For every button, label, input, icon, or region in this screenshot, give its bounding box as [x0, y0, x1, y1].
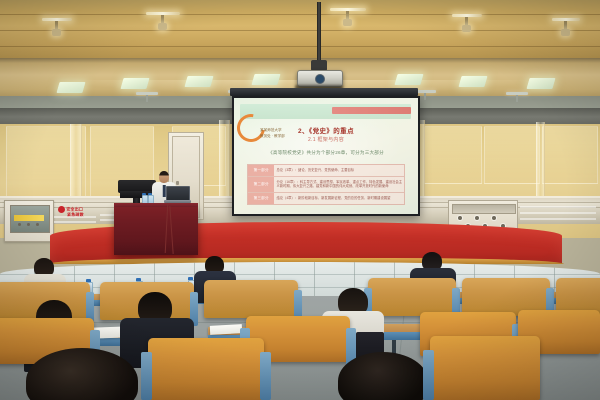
slide-table-row-label: 第一部分 — [248, 165, 275, 175]
track-spotlight — [42, 18, 72, 21]
wall-rail — [520, 206, 596, 208]
recessed-ceiling-light — [184, 76, 213, 87]
projector-mount-pole — [317, 2, 321, 62]
screen-housing — [230, 88, 418, 96]
ceiling-seam — [0, 46, 600, 47]
bottle-cap — [142, 193, 146, 195]
track-spotlight — [552, 18, 580, 21]
wall-control-cabinet[interactable] — [4, 200, 54, 242]
cabinet-window — [10, 205, 50, 233]
track-spotlight — [452, 14, 482, 17]
vent-slot — [452, 204, 516, 214]
recessed-ceiling-light — [251, 74, 280, 85]
recessed-ceiling-light — [458, 76, 487, 87]
slide-table-row-label: 第三部分 — [248, 193, 275, 203]
wall-panel — [484, 126, 540, 184]
lecture-hall-photo: 安全出口 紧急疏散 某某师范大学 教 — [0, 0, 600, 400]
slide-table-row-body: 总论（3章）：绪论、历史复兴、党的使命、主要目标 — [274, 165, 404, 175]
wall-rail — [54, 216, 96, 218]
slide-table-row-label: 第二部分 — [248, 177, 275, 193]
wall-rail — [54, 221, 96, 223]
slide-header-band — [240, 104, 411, 119]
recessed-ceiling-light — [526, 78, 555, 89]
slide-table-row-body: 分论（16章）：科主导方式、建设思想、军民改革、重点工作、特色发展、建设社会主义… — [274, 177, 404, 193]
slide-table-row: 第二部分 分论（16章）：科主导方式、建设思想、军民改革、重点工作、特色发展、建… — [248, 177, 404, 194]
track-spotlight — [146, 12, 180, 15]
speaker-head — [159, 171, 169, 183]
cabinet-warning-label — [14, 215, 44, 221]
slide-content-table: 第一部分 总论（3章）：绪论、历史复兴、党的使命、主要目标 第二部分 分论（16… — [247, 164, 405, 205]
wall-pillar — [70, 124, 82, 204]
ceiling-seam — [0, 14, 600, 15]
slide-table-row: 第一部分 总论（3章）：绪论、历史复兴、党的使命、主要目标 — [248, 165, 404, 176]
recessed-ceiling-light — [394, 74, 423, 85]
bottle-cap — [148, 193, 152, 195]
projection-screen-frame: 某某师范大学 教务处 · 教学部 2、《党史》的重点 2.1 框架与内容 《高等… — [232, 96, 420, 216]
recessed-ceiling-light — [120, 78, 149, 89]
paper-sheet — [210, 324, 242, 335]
slide-header-accent-bar — [332, 107, 411, 114]
bottle-cap — [188, 277, 193, 280]
table-skirt — [114, 207, 198, 255]
projection-screen: 某某师范大学 教务处 · 教学部 2、《党史》的重点 2.1 框架与内容 《高等… — [234, 98, 418, 214]
wall-rail — [520, 218, 596, 220]
wall-rail — [520, 212, 596, 214]
exit-sign-logo-icon — [58, 206, 65, 213]
ceiling-gold-panels — [0, 0, 600, 62]
exit-sign-line1: 安全出口 — [66, 207, 83, 212]
track-spotlight — [330, 8, 366, 11]
door-handle[interactable] — [176, 181, 179, 185]
slide-lead-text: 《高等院校党史》共分为个部分26章，可分为三大部分 — [245, 150, 407, 156]
ceiling-hanger-bar — [506, 92, 528, 95]
wall-pillar — [536, 122, 545, 206]
projector-lens — [315, 74, 325, 84]
ceiling-hanger-bar — [136, 92, 158, 95]
speaker-tie — [163, 185, 166, 197]
bottle-cap — [86, 279, 91, 282]
wall-panel — [542, 126, 598, 184]
recessed-ceiling-light — [56, 82, 85, 93]
slide-table-row: 第三部分 结论（4章）：新阶段新目标、新发展新征程、党的总的任务、新时期建设展望 — [248, 193, 404, 203]
slide-subtitle: 2.1 框架与内容 — [234, 136, 418, 143]
bottle-cap — [136, 278, 141, 281]
slide-table-row-body: 结论（4章）：新阶段新目标、新发展新征程、党的总的任务、新时期建设展望 — [274, 193, 404, 203]
wall-panel — [424, 126, 482, 184]
slide-title: 2、《党史》的重点 — [234, 125, 418, 135]
ceiling-seam — [0, 30, 600, 31]
